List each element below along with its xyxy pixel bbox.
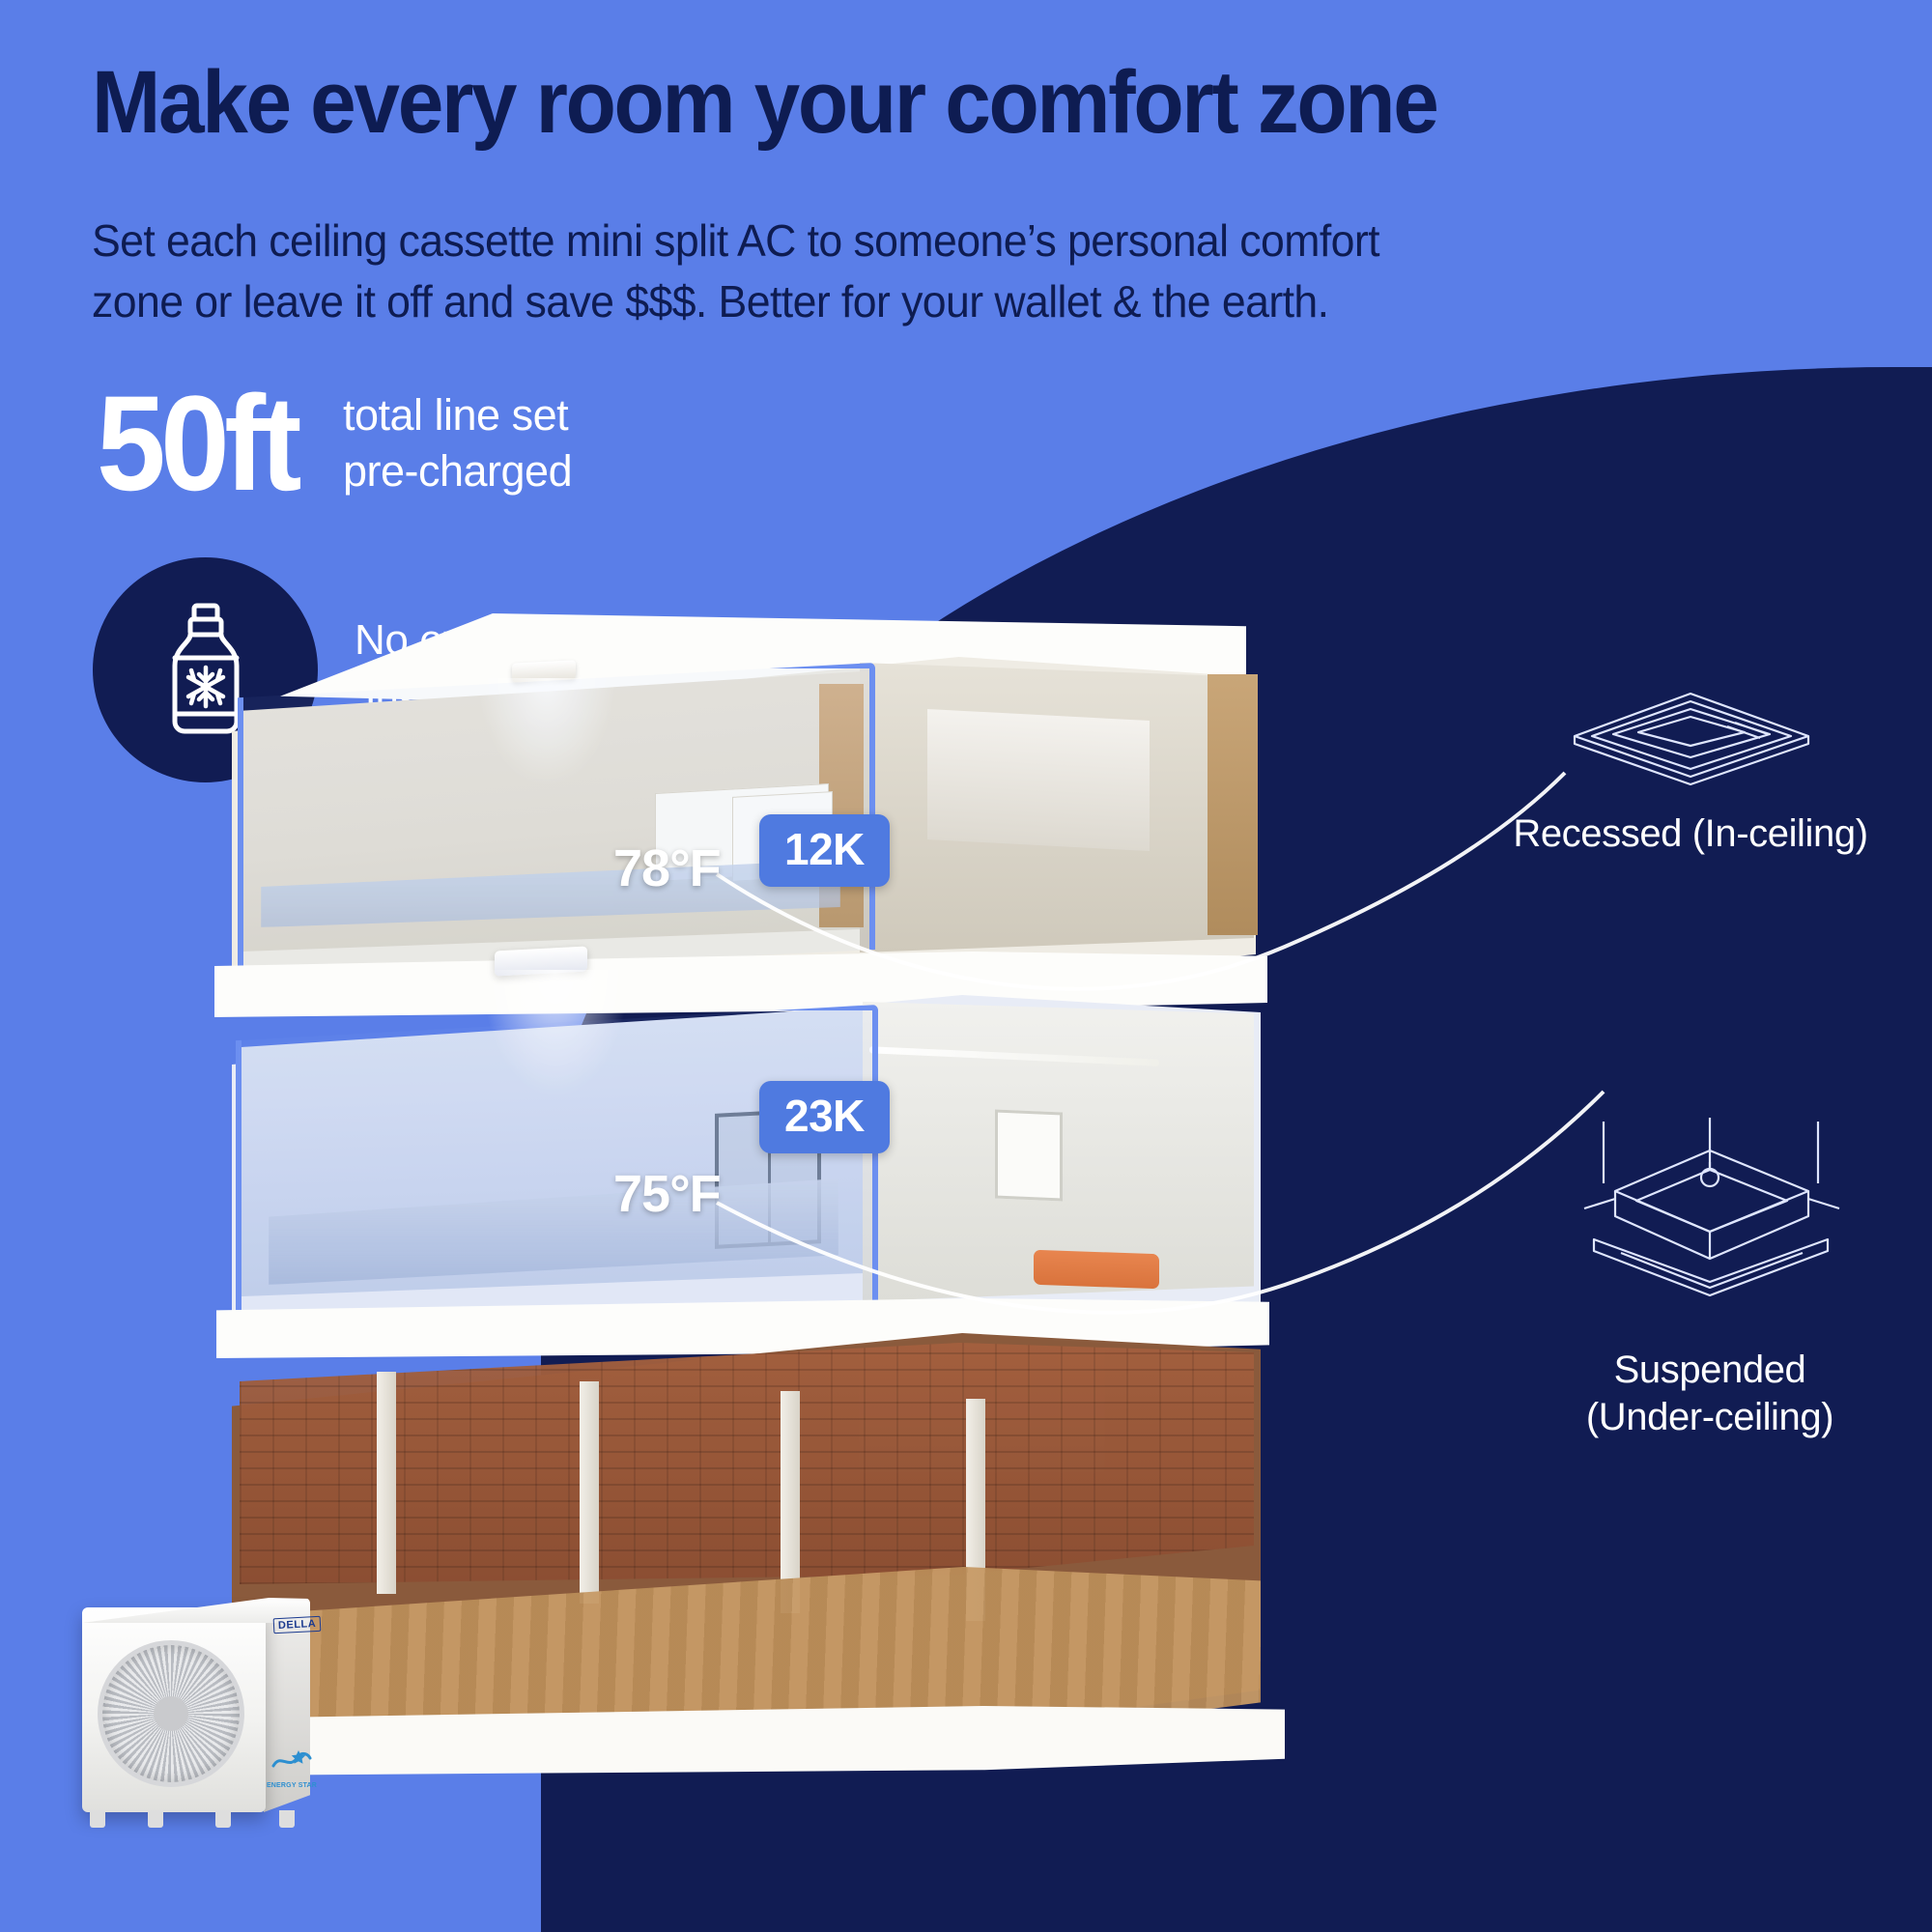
- callout-suspended: Suspended (Under-ceiling): [1507, 1116, 1913, 1441]
- building-cutaway-illustration: [193, 570, 1314, 1855]
- floor-middle-sofa: [1034, 1250, 1159, 1290]
- recessed-cassette-icon: [1546, 780, 1835, 796]
- floor-lower-column-2: [580, 1381, 599, 1604]
- subtitle-line-1: Set each ceiling cassette mini split AC …: [92, 211, 1479, 271]
- comfort-zone-outline-middle: [236, 1005, 878, 1331]
- outdoor-condenser-unit: DELLA ENERGY STAR: [72, 1584, 304, 1835]
- condenser-legs: [90, 1810, 295, 1828]
- condenser-fan-grille: [98, 1640, 244, 1787]
- callout-suspended-caption: Suspended (Under-ceiling): [1507, 1347, 1913, 1441]
- capacity-badge-upper[interactable]: 12K: [759, 814, 890, 887]
- capacity-badge-middle[interactable]: 23K: [759, 1081, 890, 1153]
- line-set-stat: 50ft total line set pre-charged: [97, 379, 572, 507]
- floor-lower-column-1: [377, 1372, 396, 1594]
- stat-label: total line set pre-charged: [343, 387, 572, 498]
- page-subtitle: Set each ceiling cassette mini split AC …: [92, 211, 1479, 333]
- temperature-label-middle: 75°F: [613, 1164, 721, 1224]
- page-title: Make every room your comfort zone: [92, 56, 1493, 150]
- stat-label-line-1: total line set: [343, 387, 572, 443]
- stat-value: 50ft: [97, 379, 297, 507]
- callout-recessed: Recessed (In-ceiling): [1468, 676, 1913, 858]
- subtitle-line-2: zone or leave it off and save $$$. Bette…: [92, 271, 1479, 332]
- infographic-canvas: Make every room your comfort zone Set ea…: [0, 0, 1932, 1932]
- temperature-label-upper: 78°F: [613, 838, 721, 898]
- condenser-brand-label: DELLA: [273, 1616, 322, 1634]
- floor-upper-projection-screen: [927, 709, 1150, 851]
- callout-recessed-caption: Recessed (In-ceiling): [1468, 810, 1913, 858]
- energy-star-text: ENERGY STAR: [264, 1782, 320, 1789]
- floor-upper-wood-panel-right: [1207, 674, 1258, 935]
- floor-middle-wall-art: [995, 1110, 1063, 1202]
- energy-star-logo: ENERGY STAR: [264, 1747, 320, 1803]
- base-slab: [213, 1706, 1285, 1776]
- stat-label-line-2: pre-charged: [343, 443, 572, 499]
- suspended-cassette-icon: [1565, 1316, 1855, 1332]
